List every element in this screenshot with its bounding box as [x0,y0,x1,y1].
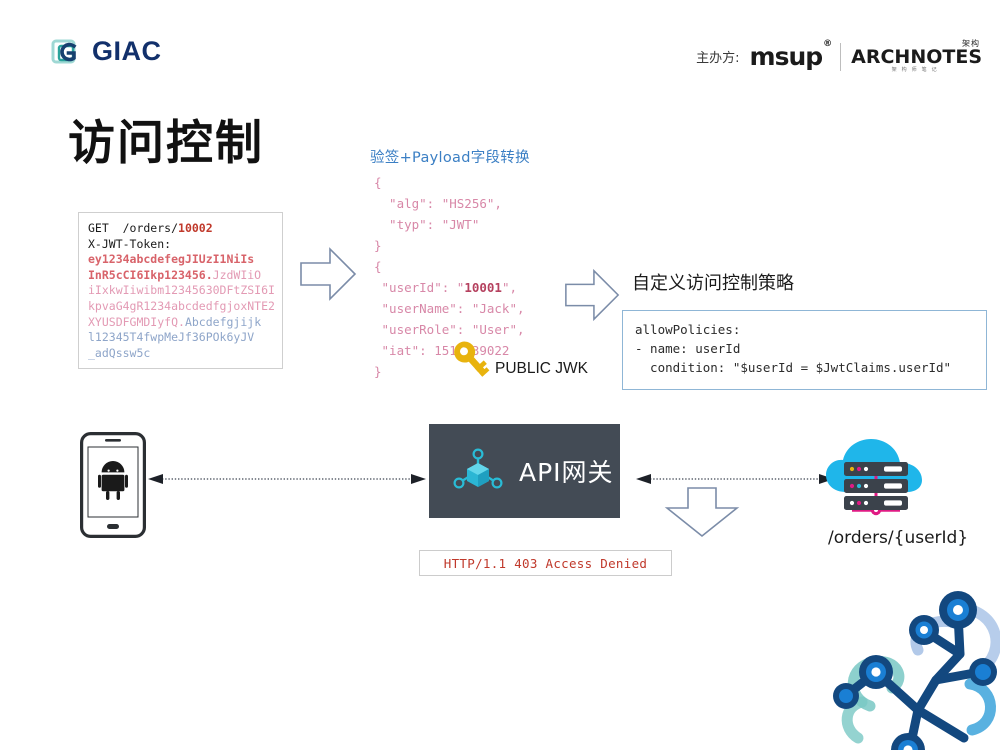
json-header-open: { [374,175,382,190]
sponsor-label: 主办方: [696,47,739,66]
request-jwt-header-name: X-JWT-Token: [88,237,171,251]
arrow-payload-to-policy [562,265,622,325]
json-typ: "typ": "JWT" [374,217,479,232]
public-jwk-label: PUBLIC JWK [495,360,588,382]
json-userrole: "userRole": "User", [374,322,525,337]
policy-box: allowPolicies: - name: userId condition:… [622,310,987,390]
slide-root: GIAC 主办方: msup® 架构 ARCHNOTES 架构师笔记 访问控制 … [0,0,1000,750]
page-title: 访问控制 [68,104,264,173]
msup-registered-mark: ® [823,39,831,49]
arrow-gateway-down [663,486,741,538]
verify-caption: 验签+Payload字段转换 [370,146,530,167]
json-payload-close: } [374,364,382,379]
json-username: "userName": "Jack", [374,301,525,316]
request-method-path: GET /orders/ [88,221,178,235]
sponsor-divider [840,43,841,71]
http-response-text: HTTP/1.1 403 Access Denied [444,556,647,571]
archnotes-subtitle: 架构师笔记 [892,68,942,73]
giac-wordmark: GIAC [92,36,162,67]
backend-route-label: /orders/{userId} [828,528,968,548]
http-response-box: HTTP/1.1 403 Access Denied [419,550,672,576]
link-client-to-gateway [148,470,426,488]
json-userid-key: "userId": " [374,280,464,295]
request-order-id: 10002 [178,221,213,235]
msup-logo: msup® [750,42,831,71]
http-request-box: GET /orders/10002 X-JWT-Token: ey1234abc… [78,212,283,369]
json-userid-tail: ", [502,280,517,295]
archnotes-logo: 架构 ARCHNOTES 架构师笔记 [851,40,982,73]
giac-logo: GIAC [52,36,162,67]
json-alg: "alg": "HS256", [374,196,502,211]
jwt-dot-1: . [206,268,213,282]
android-phone-icon [80,432,146,538]
policy-line-3: condition: "$userId = $JwtClaims.userId" [635,360,951,375]
cloud-server-icon [822,430,930,522]
jwt-dot-2: . [178,315,185,329]
json-header-close: } [374,238,382,253]
api-gateway-label: API网关 [519,453,614,489]
archnotes-wordmark: ARCHNOTES [851,48,982,67]
sponsor-bar: 主办方: msup® 架构 ARCHNOTES 架构师笔记 [696,40,982,73]
msup-text: msup [750,42,823,71]
giac-logo-icon [52,37,86,67]
policy-line-1: allowPolicies: [635,322,740,337]
policy-caption: 自定义访问控制策略 [632,269,794,295]
api-gateway-box: API网关 [429,424,620,518]
api-gateway-node-icon [451,444,505,498]
json-payload-open: { [374,259,382,274]
key-icon [449,338,491,382]
public-jwk-group: PUBLIC JWK [449,338,588,382]
network-nodes-graphic [840,588,1000,750]
arrow-request-to-payload [297,243,359,305]
json-userid-value: 10001 [464,280,502,295]
policy-line-2: - name: userId [635,341,740,356]
